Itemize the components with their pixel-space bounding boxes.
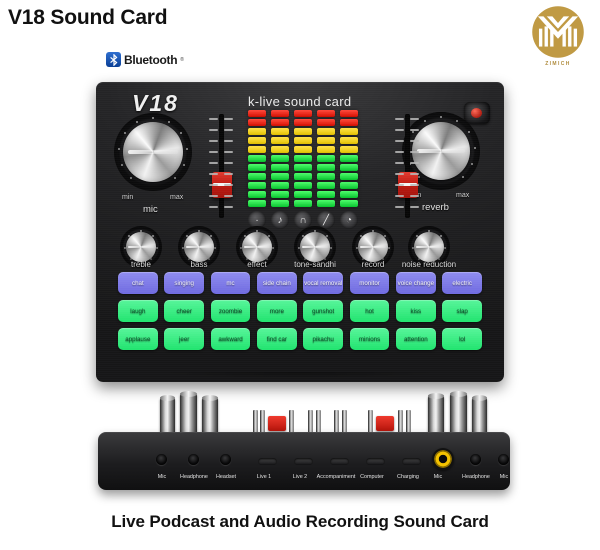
fader-tick	[410, 140, 419, 142]
knob-label: tone-sandhi	[284, 260, 346, 269]
fader-tick	[209, 129, 218, 131]
pad-button-lol[interactable]: lol	[442, 328, 482, 350]
led-segment	[340, 173, 358, 180]
pad-button-mc[interactable]: mc	[211, 272, 251, 294]
led-segment	[248, 191, 266, 198]
led-segment	[294, 173, 312, 180]
led-segment	[294, 182, 312, 189]
pad-button-gunshot[interactable]: gunshot	[303, 300, 343, 322]
port-headphone[interactable]	[470, 454, 481, 465]
fader-tick	[209, 195, 218, 197]
led-segment	[340, 164, 358, 171]
knob-tick-dot	[456, 120, 458, 122]
led-segment	[294, 137, 312, 144]
knob-tick-dot	[130, 177, 132, 179]
led-segment	[317, 110, 335, 117]
port-headset[interactable]	[220, 454, 231, 465]
knob-tick-dot	[388, 247, 390, 249]
knob-label: noise reduction	[398, 260, 460, 269]
pad-button-attention[interactable]: attention	[396, 328, 436, 350]
knob-tick-dot	[440, 116, 442, 118]
fader-tick	[224, 206, 233, 208]
rear-red-connector	[268, 416, 286, 431]
led-segment	[294, 119, 312, 126]
led-segment	[340, 191, 358, 198]
knob-tick-dot	[471, 163, 473, 165]
led-segment	[271, 110, 289, 117]
port-computer[interactable]	[366, 458, 385, 465]
pad-button-voice-change[interactable]: voice change	[396, 272, 436, 294]
power-indicator	[471, 108, 482, 118]
pad-button-side-chain[interactable]: side chain	[257, 272, 297, 294]
led-segment	[294, 164, 312, 171]
knob-tick-dot	[124, 132, 126, 134]
led-segment	[294, 110, 312, 117]
led-segment	[248, 173, 266, 180]
rear-red-connector	[376, 416, 394, 431]
knob-record[interactable]	[358, 232, 388, 262]
reverb-max-label: max	[456, 192, 469, 199]
led-segment	[271, 200, 289, 207]
port-label: Mic	[480, 474, 528, 480]
led-segment	[271, 164, 289, 171]
led-segment	[340, 155, 358, 162]
fader-tick	[395, 173, 404, 175]
fader-tick	[395, 206, 404, 208]
bluetooth-label: Bluetooth	[124, 53, 177, 67]
led-segment	[248, 137, 266, 144]
led-segment	[317, 164, 335, 171]
led-segment	[340, 137, 358, 144]
fader-tick	[209, 162, 218, 164]
fader-tick	[209, 118, 218, 120]
knob-label: treble	[110, 260, 172, 269]
pad-button-vocal-removal[interactable]: vocal removal	[303, 272, 343, 294]
led-segment	[248, 146, 266, 153]
fader-tick	[395, 118, 404, 120]
knob-bass[interactable]	[184, 232, 214, 262]
brand-name: ZIMICH	[526, 61, 590, 67]
led-segment	[340, 146, 358, 153]
reverb-knob-label: reverb	[422, 202, 449, 213]
knob-tick-dot	[156, 247, 158, 249]
pad-button-slap[interactable]: slap	[442, 300, 482, 322]
fader-tick	[410, 195, 419, 197]
caption: Live Podcast and Audio Recording Sound C…	[0, 512, 600, 532]
knob-tick-dot	[424, 120, 426, 122]
bluetooth-rune-icon	[109, 54, 119, 66]
port-live-2[interactable]	[294, 458, 313, 465]
fader-tick	[224, 184, 233, 186]
device-subtitle: k-live sound card	[248, 94, 351, 109]
fader-tick	[410, 184, 419, 186]
led-segment	[294, 191, 312, 198]
led-segment	[317, 173, 335, 180]
port-live-1[interactable]	[258, 458, 277, 465]
fader-tick	[224, 151, 233, 153]
knob-effect[interactable]	[242, 232, 272, 262]
led-segment	[340, 200, 358, 207]
knob-label: record	[342, 260, 404, 269]
led-segment	[317, 137, 335, 144]
pad-button-zoombie[interactable]: zoombie	[211, 300, 251, 322]
led-segment	[271, 173, 289, 180]
brand-logo: ZIMICH	[526, 4, 590, 78]
knob-label: effect	[226, 260, 288, 269]
knob-noise-reduction[interactable]	[414, 232, 444, 262]
fader-tick	[224, 140, 233, 142]
led-segment	[294, 146, 312, 153]
pad-grid: chatsingingmcside chainvocal removalmoni…	[118, 272, 482, 356]
knob-treble[interactable]	[126, 232, 156, 262]
sound-card-top-panel: V18 k-live sound card min max mic min ma…	[96, 82, 504, 382]
led-segment	[248, 182, 266, 189]
led-segment	[340, 110, 358, 117]
knob-tick-dot	[468, 131, 470, 133]
fader-tick	[395, 195, 404, 197]
fader-tick	[209, 206, 218, 208]
led-segment	[271, 128, 289, 135]
led-segment	[294, 200, 312, 207]
fader-tick	[224, 173, 233, 175]
fader-tick	[410, 162, 419, 164]
pad-button-find-car[interactable]: find car	[257, 328, 297, 350]
led-segment	[248, 128, 266, 135]
led-segment	[248, 164, 266, 171]
knob-tick-dot	[168, 121, 170, 123]
port-mic[interactable]	[156, 454, 167, 465]
fader-tick	[395, 129, 404, 131]
pad-row: chatsingingmcside chainvocal removalmoni…	[118, 272, 482, 294]
pad-button-kiss[interactable]: kiss	[396, 300, 436, 322]
power-button[interactable]	[464, 102, 490, 124]
knob-tick-dot	[174, 177, 176, 179]
fader-tick	[395, 162, 404, 164]
led-segment	[317, 119, 335, 126]
fader-tick	[224, 162, 233, 164]
led-segment	[271, 119, 289, 126]
port-charging[interactable]	[402, 458, 421, 465]
port-headphone[interactable]	[188, 454, 199, 465]
knob-tick-dot	[474, 147, 476, 149]
page-title: V18 Sound Card	[8, 6, 167, 30]
function-icon-strip: ·♪∩╱◔	[248, 211, 358, 229]
pad-button-applause[interactable]: applause	[118, 328, 158, 350]
fader-right[interactable]	[394, 114, 420, 218]
fader-tick	[395, 140, 404, 142]
pad-button-jeer[interactable]: jeer	[164, 328, 204, 350]
led-segment	[317, 146, 335, 153]
led-segment	[317, 182, 335, 189]
bluetooth-tm: ®	[180, 57, 184, 63]
led-segment	[340, 128, 358, 135]
fader-tick	[410, 173, 419, 175]
fader-tick	[224, 118, 233, 120]
port-accompaniment[interactable]	[330, 458, 349, 465]
knob-tick-dot	[136, 121, 138, 123]
speaker-icon: ◔	[340, 211, 358, 229]
fader-tick	[410, 151, 419, 153]
pad-button-awkward[interactable]: awkward	[211, 328, 251, 350]
mic-knob[interactable]	[123, 122, 183, 182]
bluetooth-icon	[106, 52, 121, 67]
pad-button-chat[interactable]: chat	[118, 272, 158, 294]
pad-button-hot[interactable]: hot	[350, 300, 390, 322]
product-image: V18 Sound Card ZIMICH Bluetooth ®	[0, 0, 600, 550]
pad-button-singing[interactable]: singing	[164, 272, 204, 294]
pad-button-laugh[interactable]: laugh	[118, 300, 158, 322]
led-segment	[248, 119, 266, 126]
led-segment	[271, 137, 289, 144]
sound-card-rear-panel: MicHeadphoneHeadsetLive 1Live 2Accompani…	[68, 392, 538, 497]
led-level-meter	[248, 110, 358, 207]
knob-tick-dot	[183, 164, 185, 166]
pad-button-electric[interactable]: electric	[442, 272, 482, 294]
knob-tick-dot	[118, 148, 120, 150]
knob-tick-dot	[272, 247, 274, 249]
knob-tick-dot	[444, 247, 446, 249]
pad-button-monitor[interactable]: monitor	[350, 272, 390, 294]
knob-tone-sandhi[interactable]	[300, 232, 330, 262]
led-segment	[271, 155, 289, 162]
led-segment	[294, 155, 312, 162]
led-segment	[294, 128, 312, 135]
brand-monogram-icon	[530, 4, 586, 60]
fader-tick	[209, 151, 218, 153]
fader-tick	[209, 184, 218, 186]
fader-tick	[224, 195, 233, 197]
fader-tick	[410, 206, 419, 208]
fader-tick	[209, 140, 218, 142]
reverb-knob[interactable]	[412, 122, 470, 180]
knob-tick-dot	[121, 164, 123, 166]
fader-left[interactable]	[208, 114, 234, 218]
knob-tick-dot	[214, 247, 216, 249]
fader-tick	[410, 129, 419, 131]
device-shadow	[100, 372, 500, 386]
fader-tick	[395, 151, 404, 153]
led-segment	[248, 110, 266, 117]
mic-min-label: min	[122, 194, 133, 201]
pad-row: applausejeerawkwardfind carpikachuminion…	[118, 328, 482, 350]
fader-tick	[410, 118, 419, 120]
pad-button-cheer[interactable]: cheer	[164, 300, 204, 322]
pad-button-minions[interactable]: minions	[350, 328, 390, 350]
knob-tick-dot	[462, 176, 464, 178]
led-segment	[248, 200, 266, 207]
mic-max-label: max	[170, 194, 183, 201]
led-segment	[340, 182, 358, 189]
knob-tick-dot	[152, 117, 154, 119]
knob-tick-dot	[330, 247, 332, 249]
mic-knob-label: mic	[143, 204, 158, 215]
bluetooth-badge: Bluetooth ®	[104, 51, 186, 68]
pad-button-pikachu[interactable]: pikachu	[303, 328, 343, 350]
led-segment	[317, 200, 335, 207]
fader-tick	[224, 129, 233, 131]
pad-row: laughcheerzoombiemoregunshothotkissslap	[118, 300, 482, 322]
knob-label: bass	[168, 260, 230, 269]
led-segment	[340, 119, 358, 126]
led-segment	[248, 155, 266, 162]
port-mic[interactable]	[498, 454, 509, 465]
knob-tick-dot	[180, 132, 182, 134]
fader-tick	[395, 184, 404, 186]
led-segment	[317, 155, 335, 162]
led-segment	[317, 191, 335, 198]
music-note-icon: ♪	[271, 211, 289, 229]
knob-tick-dot	[186, 148, 188, 150]
led-segment	[317, 128, 335, 135]
led-segment	[271, 182, 289, 189]
port-mic[interactable]	[432, 448, 454, 470]
pad-button-more[interactable]: more	[257, 300, 297, 322]
led-segment	[271, 191, 289, 198]
led-segment	[271, 146, 289, 153]
fader-tick	[209, 173, 218, 175]
rear-body: MicHeadphoneHeadsetLive 1Live 2Accompani…	[98, 432, 510, 490]
